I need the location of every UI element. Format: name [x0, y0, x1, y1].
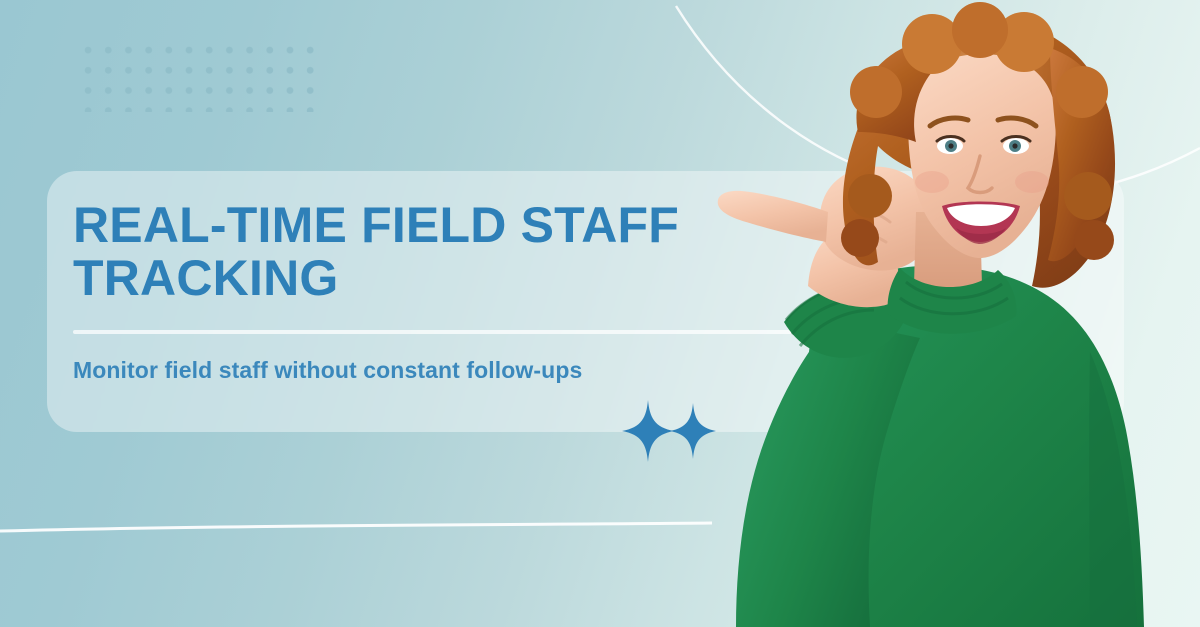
hairline-decoration: [0, 521, 712, 611]
eye-left: [937, 138, 963, 154]
pupil-right: [1012, 143, 1017, 148]
content-card: REAL-TIME FIELD STAFF TRACKING Monitor f…: [47, 171, 1124, 432]
eyelash-right: [1002, 137, 1030, 142]
eyebrow-left: [930, 118, 968, 126]
dot-grid-decoration: [78, 40, 322, 112]
white-arc-top-right: [676, 6, 1200, 197]
page-subtitle: Monitor field staff without constant fol…: [73, 357, 582, 384]
hair-curl-left: [856, 36, 986, 142]
hair-highlight: [872, 36, 1092, 184]
hair-curl-dot-8: [994, 12, 1054, 72]
hair-curl-dot-7: [902, 14, 962, 74]
eyelash-left: [937, 137, 964, 142]
divider-rule: [73, 330, 1083, 334]
white-hairline-bottom-left: [0, 523, 712, 531]
card-content: REAL-TIME FIELD STAFF TRACKING: [73, 199, 1124, 432]
hair-curl-dot-5: [850, 66, 902, 118]
eye-right: [1003, 138, 1029, 154]
iris-left: [945, 140, 957, 152]
pupil-left: [948, 143, 953, 148]
hair-curl-dot-6: [1056, 66, 1108, 118]
hair-curl-dot-9: [952, 2, 1008, 58]
eyebrow-right: [998, 118, 1036, 126]
iris-right: [1009, 140, 1021, 152]
page-title: REAL-TIME FIELD STAFF TRACKING: [73, 199, 693, 305]
promo-banner: REAL-TIME FIELD STAFF TRACKING Monitor f…: [0, 0, 1200, 627]
